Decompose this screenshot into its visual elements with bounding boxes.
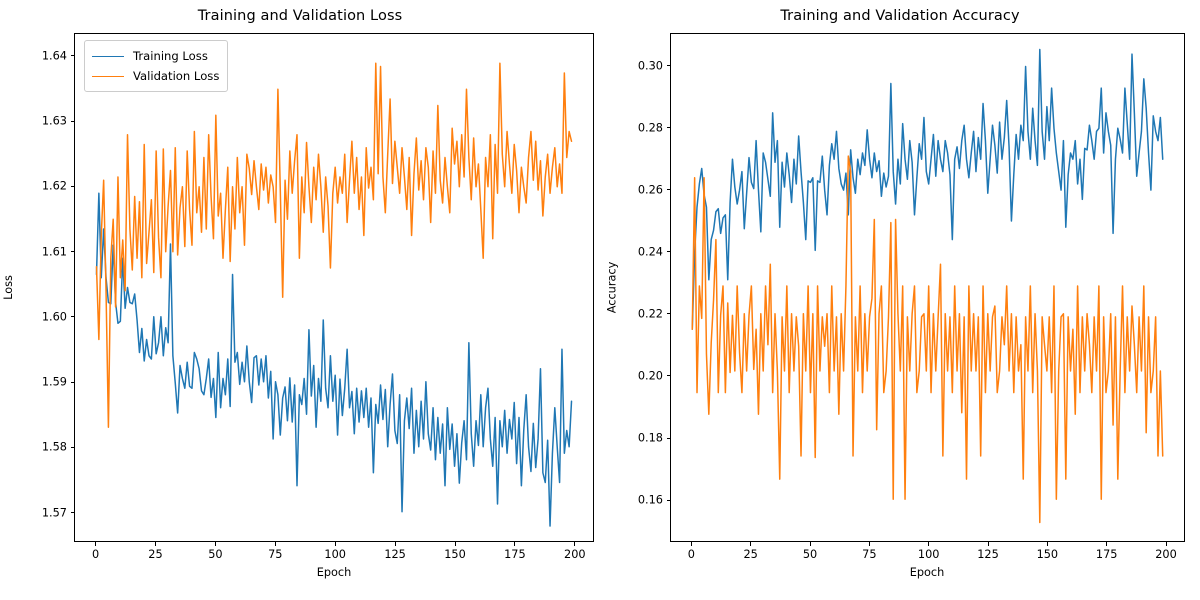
legend-label: Validation Loss <box>133 69 219 83</box>
x-tick-mark <box>810 542 811 546</box>
x-tick-label: 50 <box>803 548 817 561</box>
y-tick-label: 0.18 <box>625 432 663 445</box>
x-tick-label: 75 <box>268 548 282 561</box>
x-tick-mark <box>514 542 515 546</box>
loss-series-canvas <box>75 34 593 541</box>
x-tick-mark <box>95 542 96 546</box>
y-tick-label: 1.60 <box>29 310 67 323</box>
x-tick-mark <box>988 542 989 546</box>
y-tick-mark <box>667 500 671 501</box>
loss-xaxis-label: Epoch <box>317 566 352 579</box>
x-tick-label: 125 <box>977 548 999 561</box>
x-tick-mark <box>155 542 156 546</box>
x-tick-label: 25 <box>148 548 162 561</box>
x-tick-label: 175 <box>504 548 526 561</box>
accuracy-chart-title: Training and Validation Accuracy <box>600 8 1200 24</box>
x-tick-mark <box>574 542 575 546</box>
y-tick-label: 0.26 <box>625 183 663 196</box>
y-tick-mark <box>667 127 671 128</box>
y-tick-label: 0.16 <box>625 494 663 507</box>
x-tick-label: 100 <box>918 548 940 561</box>
accuracy-chart-panel: Training and Validation Accuracy 0.160.1… <box>600 0 1200 600</box>
x-tick-label: 50 <box>208 548 222 561</box>
x-tick-mark <box>869 542 870 546</box>
y-tick-mark <box>71 121 75 122</box>
series-line-validation-accuracy <box>692 156 1162 522</box>
accuracy-plot-area <box>670 33 1185 542</box>
x-tick-label: 175 <box>1096 548 1118 561</box>
loss-chart-panel: Training and Validation Loss 1.571.581.5… <box>0 0 600 600</box>
y-tick-label: 0.24 <box>625 245 663 258</box>
x-tick-mark <box>750 542 751 546</box>
x-tick-mark <box>215 542 216 546</box>
x-tick-label: 25 <box>744 548 758 561</box>
y-tick-label: 1.57 <box>29 506 67 519</box>
x-tick-mark <box>1106 542 1107 546</box>
x-tick-label: 75 <box>862 548 876 561</box>
x-tick-mark <box>395 542 396 546</box>
series-line-validation-loss <box>96 63 571 427</box>
accuracy-series-canvas <box>671 34 1184 541</box>
x-tick-label: 100 <box>324 548 346 561</box>
y-tick-label: 1.59 <box>29 376 67 389</box>
y-tick-label: 1.62 <box>29 180 67 193</box>
x-tick-label: 200 <box>1155 548 1177 561</box>
y-tick-label: 0.30 <box>625 59 663 72</box>
x-tick-mark <box>1166 542 1167 546</box>
accuracy-xaxis-label: Epoch <box>910 566 945 579</box>
x-tick-label: 150 <box>1037 548 1059 561</box>
x-tick-mark <box>1047 542 1048 546</box>
line-swatch-icon <box>92 56 124 57</box>
y-tick-mark <box>71 447 75 448</box>
y-tick-label: 0.22 <box>625 307 663 320</box>
y-tick-label: 1.61 <box>29 245 67 258</box>
x-tick-label: 0 <box>92 548 99 561</box>
legend-item-training-loss: Training Loss <box>92 46 219 66</box>
y-tick-mark <box>71 382 75 383</box>
x-tick-mark <box>455 542 456 546</box>
y-tick-mark <box>71 251 75 252</box>
legend-label: Training Loss <box>133 49 208 63</box>
loss-yaxis-label: Loss <box>2 275 15 300</box>
x-tick-label: 200 <box>564 548 586 561</box>
line-swatch-icon <box>92 76 124 77</box>
y-tick-label: 1.64 <box>29 49 67 62</box>
x-tick-label: 150 <box>444 548 466 561</box>
y-tick-mark <box>71 512 75 513</box>
y-tick-mark <box>667 438 671 439</box>
x-tick-mark <box>275 542 276 546</box>
x-tick-mark <box>335 542 336 546</box>
y-tick-mark <box>667 65 671 66</box>
loss-plot-area <box>74 33 594 542</box>
legend-item-validation-loss: Validation Loss <box>92 66 219 86</box>
accuracy-yaxis-label: Accuracy <box>605 262 618 314</box>
loss-legend[interactable]: Training Loss Validation Loss <box>84 40 228 92</box>
y-tick-mark <box>71 186 75 187</box>
y-tick-mark <box>71 55 75 56</box>
x-tick-label: 125 <box>384 548 406 561</box>
y-tick-label: 1.58 <box>29 441 67 454</box>
x-tick-mark <box>691 542 692 546</box>
x-tick-mark <box>928 542 929 546</box>
y-tick-mark <box>667 251 671 252</box>
x-tick-label: 0 <box>688 548 695 561</box>
y-tick-label: 1.63 <box>29 115 67 128</box>
y-tick-mark <box>71 316 75 317</box>
y-tick-mark <box>667 189 671 190</box>
y-tick-mark <box>667 313 671 314</box>
figure-canvas: Training and Validation Loss 1.571.581.5… <box>0 0 1200 600</box>
series-line-training-loss <box>96 193 571 526</box>
y-tick-label: 0.28 <box>625 121 663 134</box>
y-tick-label: 0.20 <box>625 369 663 382</box>
y-tick-mark <box>667 375 671 376</box>
series-line-training-accuracy <box>692 49 1162 329</box>
loss-chart-title: Training and Validation Loss <box>0 8 600 24</box>
